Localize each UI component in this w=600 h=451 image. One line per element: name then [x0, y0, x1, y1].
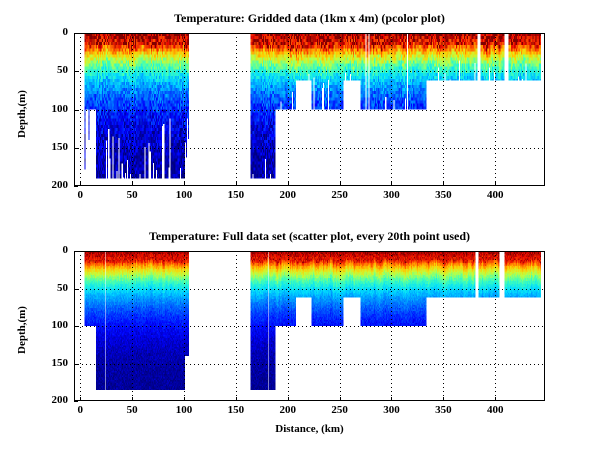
panel-2-ytick-mark: [74, 364, 78, 365]
panel-1-xtick-label: 0: [60, 189, 100, 201]
panel-2-axes-frame: [74, 251, 545, 401]
panel-1-xtick-mark: [495, 182, 496, 186]
panel-1-xtick-mark: [80, 182, 81, 186]
panel-2-xtick-label: 100: [164, 404, 204, 416]
panel-1-xtick-label: 100: [164, 189, 204, 201]
panel-2-ytick-label: 150: [32, 357, 68, 369]
panel-1-ytick-mark: [74, 110, 78, 111]
panel-1-ytick-mark: [74, 71, 78, 72]
panel-2-xtick-mark: [132, 397, 133, 401]
panel-2-xtick-label: 50: [112, 404, 152, 416]
panel-1-xtick-mark: [340, 182, 341, 186]
panel-1-ytick-label: 100: [32, 103, 68, 115]
panel-1-xtick-label: 400: [475, 189, 515, 201]
panel-2-y-axis-label: Depth,(m): [16, 306, 28, 354]
panel-2-xtick-mark: [236, 397, 237, 401]
panel-2-xtick-mark: [288, 397, 289, 401]
panel-2-xtick-label: 350: [423, 404, 463, 416]
panel-1-ytick-mark: [74, 33, 78, 34]
panel-1-xtick-mark: [184, 182, 185, 186]
panel-2-xtick-label: 300: [371, 404, 411, 416]
panel-1-xtick-mark: [236, 182, 237, 186]
panel-1-xtick-label: 350: [423, 189, 463, 201]
panel-2-xtick-mark: [391, 397, 392, 401]
panel-1-title: Temperature: Gridded data (1km x 4m) (pc…: [74, 11, 545, 26]
panel-1-ytick-mark: [74, 186, 78, 187]
panel-1-xtick-mark: [132, 182, 133, 186]
panel-2-xtick-label: 200: [268, 404, 308, 416]
panel-2-xtick-label: 150: [216, 404, 256, 416]
panel-1-xtick-label: 150: [216, 189, 256, 201]
panel-2-xtick-label: 250: [320, 404, 360, 416]
panel-2-ytick-mark: [74, 326, 78, 327]
panel-2-xtick-mark: [340, 397, 341, 401]
panel-2-xtick-mark: [443, 397, 444, 401]
figure-canvas: Temperature: Gridded data (1km x 4m) (pc…: [0, 0, 600, 451]
panel-2-ytick-mark: [74, 401, 78, 402]
panel-2-ytick-mark: [74, 251, 78, 252]
panel-1-xtick-label: 50: [112, 189, 152, 201]
panel-2-xtick-label: 400: [475, 404, 515, 416]
panel-2-x-axis-label: Distance, (km): [74, 423, 545, 435]
panel-1-xtick-mark: [288, 182, 289, 186]
panel-1-xtick-label: 200: [268, 189, 308, 201]
panel-2-ytick-label: 100: [32, 319, 68, 331]
panel-2-title: Temperature: Full data set (scatter plot…: [74, 229, 545, 244]
panel-1-ytick-mark: [74, 148, 78, 149]
panel-2-xtick-label: 0: [60, 404, 100, 416]
panel-2-xtick-mark: [495, 397, 496, 401]
panel-1-ytick-label: 0: [32, 26, 68, 38]
panel-2-ytick-label: 0: [32, 244, 68, 256]
panel-1-xtick-mark: [391, 182, 392, 186]
panel-2-ytick-mark: [74, 289, 78, 290]
panel-1-y-axis-label: Depth,(m): [16, 90, 28, 138]
panel-1-xtick-label: 250: [320, 189, 360, 201]
panel-1-xtick-mark: [443, 182, 444, 186]
panel-2-xtick-mark: [80, 397, 81, 401]
panel-1-ytick-label: 50: [32, 64, 68, 76]
panel-1-axes-frame: [74, 33, 545, 186]
panel-2-xtick-mark: [184, 397, 185, 401]
panel-1-xtick-label: 300: [371, 189, 411, 201]
panel-2-ytick-label: 50: [32, 282, 68, 294]
panel-1-ytick-label: 150: [32, 141, 68, 153]
